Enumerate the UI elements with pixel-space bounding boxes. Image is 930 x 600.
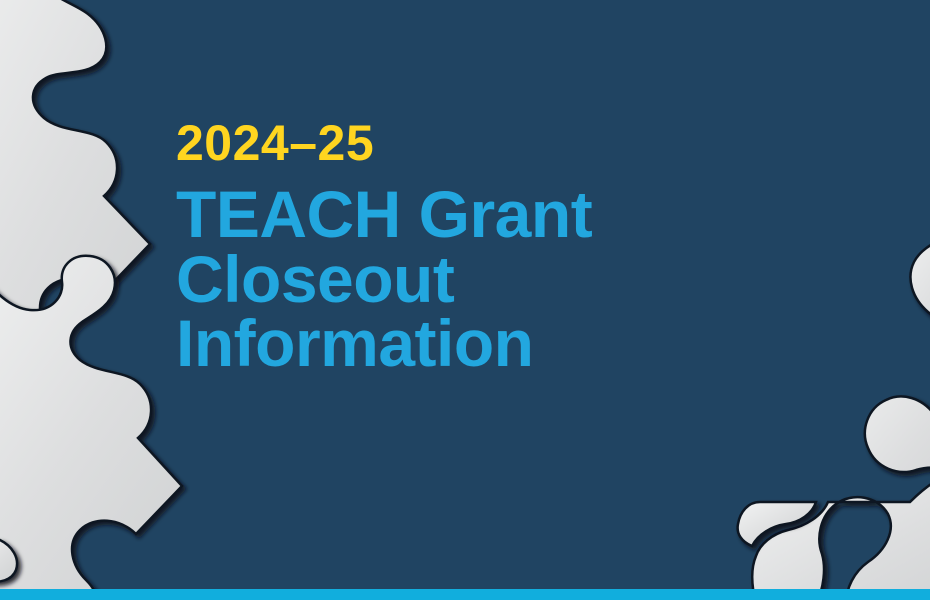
title-line-1: TEACH Grant (176, 182, 776, 247)
title-text-block: 2024–25 TEACH Grant Closeout Information (176, 118, 776, 376)
slide-canvas: 2024–25 TEACH Grant Closeout Information (0, 0, 930, 600)
puzzle-piece-bottom-right (752, 470, 930, 600)
puzzle-piece-right-knob (865, 330, 930, 486)
title-line-3: Information (176, 311, 776, 376)
bottom-accent-bar (0, 589, 930, 600)
title-line-2: Closeout (176, 247, 776, 312)
puzzle-piece-right-upper (910, 212, 930, 331)
academic-year-label: 2024–25 (176, 118, 776, 168)
